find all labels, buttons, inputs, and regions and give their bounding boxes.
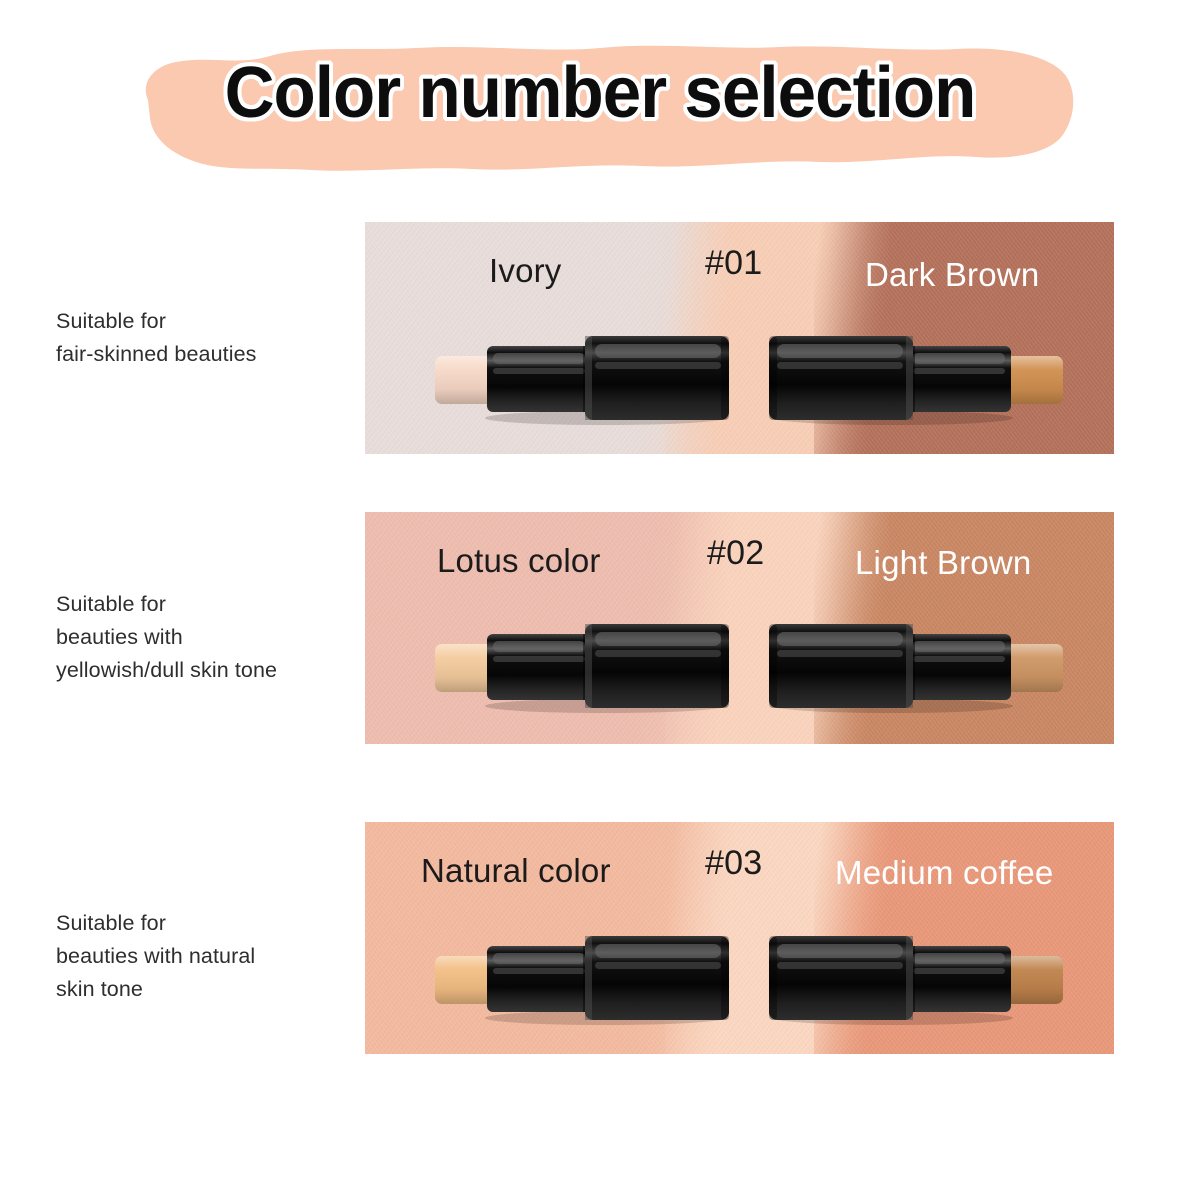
shade-name-right: Light Brown bbox=[855, 544, 1031, 582]
page-title: Color number selection bbox=[24, 52, 1176, 134]
swatch-panel: Ivory #01 Dark Brown bbox=[365, 222, 1114, 454]
shade-number: #01 bbox=[705, 244, 762, 283]
shade-description: Suitable for fair-skinned beauties bbox=[56, 305, 356, 371]
description-line: yellowish/dull skin tone bbox=[56, 654, 356, 687]
product-stick-right bbox=[763, 930, 1063, 1022]
swatch-panel: Natural color #03 Medium coffee bbox=[365, 822, 1114, 1054]
description-line: beauties with natural bbox=[56, 940, 356, 973]
product-stick-left bbox=[435, 618, 735, 710]
shade-number: #03 bbox=[705, 844, 762, 883]
shade-name-right: Dark Brown bbox=[865, 256, 1039, 294]
title-banner: Color number selection bbox=[0, 0, 1200, 190]
shade-name-right: Medium coffee bbox=[835, 854, 1053, 892]
product-stick-right bbox=[763, 618, 1063, 710]
product-stick-right bbox=[763, 330, 1063, 422]
shade-name-left: Ivory bbox=[489, 252, 562, 290]
description-line: Suitable for bbox=[56, 588, 356, 621]
description-line: fair-skinned beauties bbox=[56, 338, 356, 371]
description-line: skin tone bbox=[56, 973, 356, 1006]
swatch-panel: Lotus color #02 Light Brown bbox=[365, 512, 1114, 744]
product-stick-left bbox=[435, 330, 735, 422]
shade-name-left: Lotus color bbox=[437, 542, 601, 580]
description-line: Suitable for bbox=[56, 907, 356, 940]
shade-description: Suitable for beauties with natural skin … bbox=[56, 907, 356, 1006]
shade-name-left: Natural color bbox=[421, 852, 611, 890]
shade-description: Suitable for beauties with yellowish/dul… bbox=[56, 588, 356, 687]
product-stick-left bbox=[435, 930, 735, 1022]
description-line: Suitable for bbox=[56, 305, 356, 338]
shade-number: #02 bbox=[707, 534, 764, 573]
description-line: beauties with bbox=[56, 621, 356, 654]
